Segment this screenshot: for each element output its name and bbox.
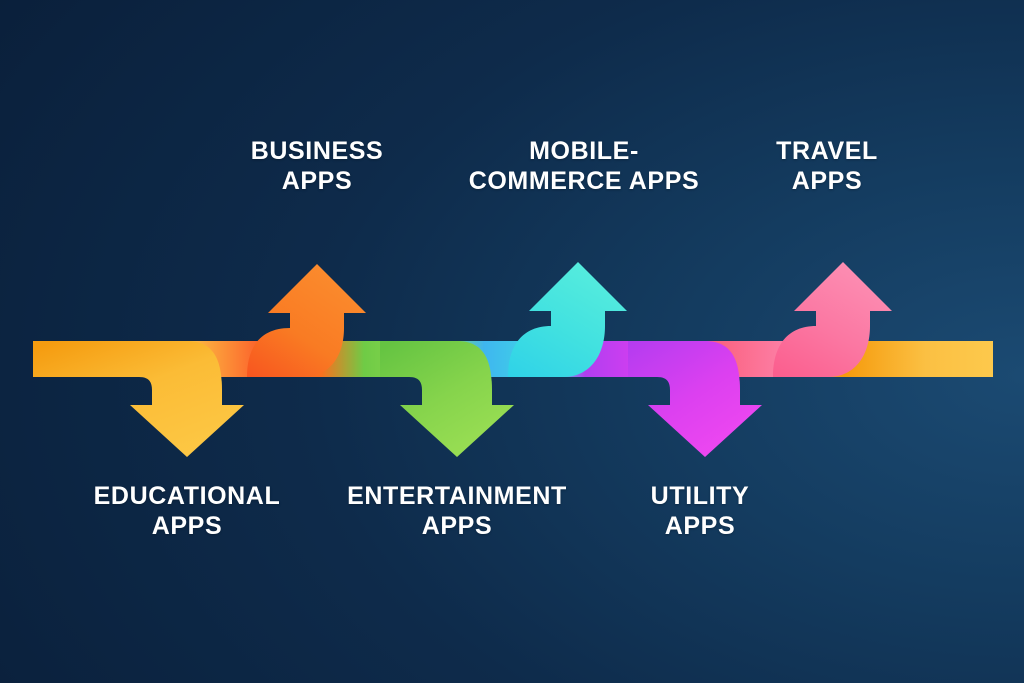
branch-arrow-educational	[33, 341, 244, 457]
infographic-canvas: BUSINESS APPS MOBILE- COMMERCE APPS TRAV…	[0, 0, 1024, 683]
flow-diagram	[0, 0, 1024, 683]
